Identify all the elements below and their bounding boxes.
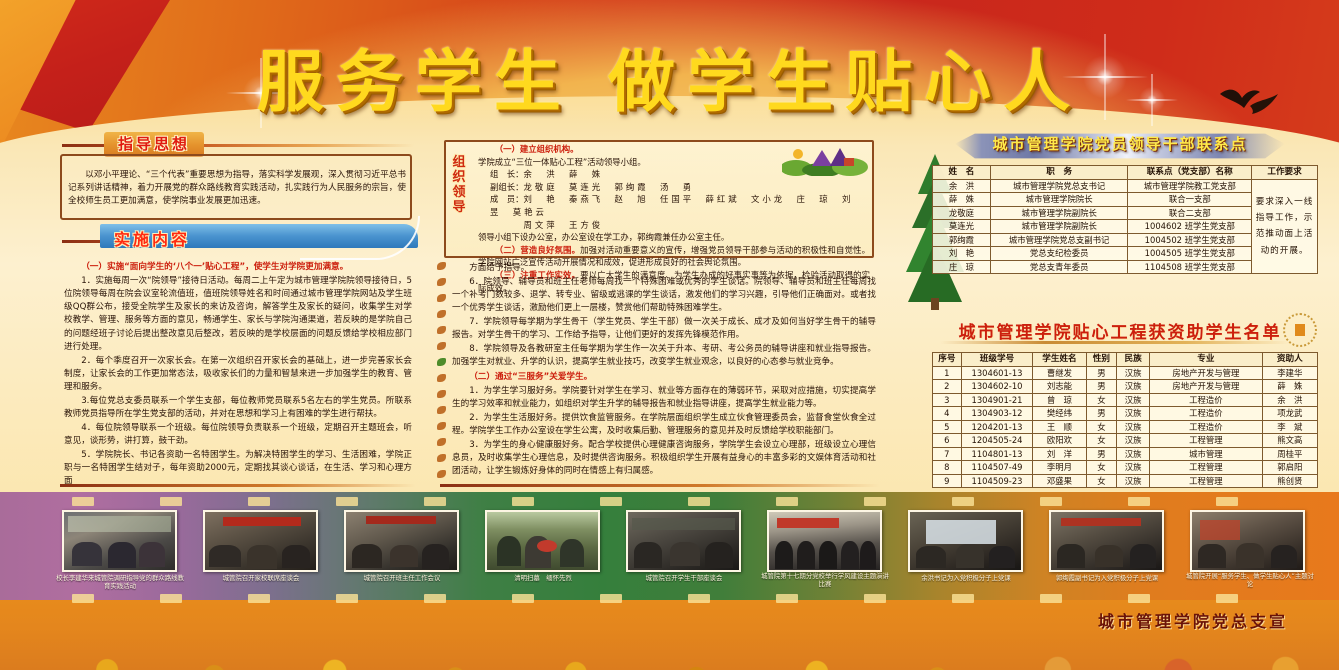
photo-image xyxy=(769,512,880,570)
photo-image xyxy=(910,512,1021,570)
film-perforation xyxy=(1128,497,1150,506)
org-row: 成 员：刘 艳 秦燕飞 赵 旭 任国平 薛红斌 文小龙 庄 琼 刘 昱 莫艳云 xyxy=(478,193,870,218)
poster-root: 服务学生 做学生贴心人 指导思想 以邓小平理论、“三个代表”重要思想为指导，落实… xyxy=(0,0,1339,670)
cell-major: 工程造价 xyxy=(1150,407,1263,421)
film-perforation xyxy=(1216,497,1238,506)
photo-image xyxy=(1051,512,1162,570)
film-perforation xyxy=(864,497,886,506)
org-names: 周文萍 王方俊 xyxy=(524,220,604,230)
photo-caption: 郭绚霞副书记为入党积极分子上党课 xyxy=(1043,574,1171,582)
cell-gender: 女 xyxy=(1086,420,1117,434)
organization-signature: 城市管理学院党总支宣 xyxy=(1098,608,1288,632)
cell-name: 余 洪 xyxy=(933,179,991,193)
photo-image xyxy=(628,512,739,570)
cell-major: 工程管理 xyxy=(1150,434,1263,448)
cell-duty: 城市管理学院副院长 xyxy=(990,220,1128,234)
cell-sponsor: 郭启阳 xyxy=(1262,461,1317,475)
photo-caption: 城管院召开班主任工作会议 xyxy=(338,574,466,582)
org-line-2: 领导小组下设办公室，办公室设在学工办，郭绚霞兼任办公室主任。 xyxy=(478,231,870,244)
cell-name: 薛 姝 xyxy=(933,193,991,207)
photo-thumbnail[interactable] xyxy=(1190,510,1305,572)
photo-caption: 城管院第十七期分党校举行学风建设主题演讲比赛 xyxy=(761,572,889,588)
cell-student: 欧阳欢 xyxy=(1033,434,1086,448)
implementation-lead: （一）实施“面向学生的‘八个一’贴心工程”，使学生对学院更加满意。 xyxy=(64,261,412,274)
cell-student: 王 顺 xyxy=(1033,420,1086,434)
cell-gender: 女 xyxy=(1086,461,1117,475)
film-perforation xyxy=(160,594,182,603)
org-lead-2: （二）营造良好氛围。 xyxy=(495,245,580,255)
cell-sponsor: 熊创贤 xyxy=(1262,474,1317,488)
col-index: 序号 xyxy=(933,353,962,367)
col-duty: 职 务 xyxy=(990,166,1128,180)
film-perforation xyxy=(424,594,446,603)
section-implementation: 实施内容 （一）实施“面向学生的‘八个一’贴心工程”，使学生对学院更加满意。 1… xyxy=(62,226,414,488)
cell-index: 7 xyxy=(933,447,962,461)
table-row: 5 1204201-13 王 顺 女 汉族 工程造价 李 斌 xyxy=(933,420,1318,434)
service-lead: （二）通过“三服务”关爱学生。 xyxy=(452,371,876,384)
page-title: 服务学生 做学生贴心人 xyxy=(0,28,1339,125)
funded-students-table: 序号 班级学号 学生姓名 性别 民族 专业 资助人 1 1304601-13 曹… xyxy=(932,352,1318,488)
film-perforation xyxy=(600,497,622,506)
table-header-row: 姓 名 职 务 联系点（党支部）名称 工作要求 xyxy=(933,166,1318,180)
cell-duty: 城市管理学院党总支书记 xyxy=(990,179,1128,193)
cell-index: 9 xyxy=(933,474,962,488)
cell-contact: 城市管理学院教工党支部 xyxy=(1128,179,1252,193)
cell-sponsor: 周桂平 xyxy=(1262,447,1317,461)
implementation-body: （一）实施“面向学生的‘八个一’贴心工程”，使学生对学院更加满意。 1．实施每周… xyxy=(62,259,414,488)
film-perforation xyxy=(688,497,710,506)
col-name: 姓 名 xyxy=(933,166,991,180)
cell-student: 李明月 xyxy=(1033,461,1086,475)
cell-major: 工程管理 xyxy=(1150,461,1263,475)
cell-name: 莫连光 xyxy=(933,220,991,234)
cell-student: 刘志能 xyxy=(1033,380,1086,394)
film-perforation xyxy=(776,497,798,506)
funded-students-title-rule xyxy=(940,341,1290,344)
cell-index: 4 xyxy=(933,407,962,421)
film-perforation xyxy=(248,594,270,603)
left-column: 指导思想 以邓小平理论、“三个代表”重要思想为指导，落实科学发展观，深入贯彻习近… xyxy=(62,132,414,489)
funded-students-tbody: 1 1304601-13 曹继发 男 汉族 房地产开发与管理 李建华 2 130… xyxy=(933,366,1318,488)
section-heading-label: 实施内容 xyxy=(114,226,190,250)
film-perforation xyxy=(512,594,534,603)
film-perforation xyxy=(72,594,94,603)
service-item: 1．为学生学习服好务。学院要针对学生在学习、就业等方面存在的薄弱环节，采取对应措… xyxy=(452,385,876,411)
org-role: 副组长： xyxy=(490,182,524,192)
cell-gender: 女 xyxy=(1086,393,1117,407)
org-lead-1: （一）建立组织机构。 xyxy=(478,143,870,156)
cell-gender: 男 xyxy=(1086,380,1117,394)
photo-caption: 清明扫墓 缅怀先烈 xyxy=(479,574,607,582)
cell-index: 3 xyxy=(933,393,962,407)
cell-ethnicity: 汉族 xyxy=(1117,447,1150,461)
cell-contact: 1004502 班学生党支部 xyxy=(1128,233,1252,247)
middle-column-text: 方面给予指导。 6．院领导、辅导员和班主任老师每周找一个特殊困难或优秀的学生谈话… xyxy=(452,262,876,479)
cell-ethnicity: 汉族 xyxy=(1117,393,1150,407)
cell-sponsor: 李 斌 xyxy=(1262,420,1317,434)
col-gender: 性别 xyxy=(1086,353,1117,367)
cell-sponsor: 项龙武 xyxy=(1262,407,1317,421)
left-column-bottom-rule xyxy=(60,484,416,487)
cell-class-id: 1304903-12 xyxy=(961,407,1033,421)
cell-student: 樊经纬 xyxy=(1033,407,1086,421)
film-perforation xyxy=(336,497,358,506)
cell-duty: 城市管理学院党总支副书记 xyxy=(990,233,1128,247)
cell-duty: 党总支青年委员 xyxy=(990,260,1128,274)
photo-caption: 余洪书记为入党积极分子上党课 xyxy=(902,574,1030,582)
org-row: 副组长：龙敬庭 莫连光 郭绚霞 汤 勇 xyxy=(478,181,870,194)
cell-index: 2 xyxy=(933,380,962,394)
implementation-item: 4．每位院领导联系一个班级。每位院领导负责联系一个班级，定期召开主题班会，听意见… xyxy=(64,422,412,448)
section-guiding-ideology: 指导思想 以邓小平理论、“三个代表”重要思想为指导，落实科学发展观，深入贯彻习近… xyxy=(62,132,414,208)
cell-gender: 男 xyxy=(1086,366,1117,380)
film-perforation xyxy=(160,497,182,506)
guiding-paragraph: 以邓小平理论、“三个代表”重要思想为指导，落实科学发展观，深入贯彻习近平总书记系… xyxy=(68,169,406,208)
film-perforation xyxy=(864,594,886,603)
cell-name: 郭绚霞 xyxy=(933,233,991,247)
org-names: 余 洪 薛 姝 xyxy=(524,169,604,179)
film-perforation xyxy=(1040,594,1062,603)
header-swoosh-decoration xyxy=(300,216,420,260)
cell-class-id: 1304901-21 xyxy=(961,393,1033,407)
cell-class-id: 1204505-24 xyxy=(961,434,1033,448)
cell-ethnicity: 汉族 xyxy=(1117,434,1150,448)
cell-student: 曹继发 xyxy=(1033,366,1086,380)
cell-name: 庄 琼 xyxy=(933,260,991,274)
org-role: 组 长： xyxy=(490,169,524,179)
cell-class-id: 1304602-10 xyxy=(961,380,1033,394)
cell-contact: 联合二支部 xyxy=(1128,206,1252,220)
cell-sponsor: 余 洪 xyxy=(1262,393,1317,407)
cell-gender: 男 xyxy=(1086,407,1117,421)
col-class-id: 班级学号 xyxy=(961,353,1033,367)
org-label-char: 组 xyxy=(452,156,465,169)
film-perforation xyxy=(424,497,446,506)
implementation-item: 3.每位党总支委员联系一个学生支部，每位教师党员联系5名左右的学生党员。所联系教… xyxy=(64,395,412,421)
cell-class-id: 1304601-13 xyxy=(961,366,1033,380)
film-perforation xyxy=(248,497,270,506)
cell-major: 房地产开发与管理 xyxy=(1150,366,1263,380)
cell-major: 工程管理 xyxy=(1150,474,1263,488)
cell-index: 8 xyxy=(933,461,962,475)
col-student-name: 学生姓名 xyxy=(1033,353,1086,367)
film-perforation xyxy=(1128,594,1150,603)
table-row: 4 1304903-12 樊经纬 男 汉族 工程造价 项龙武 xyxy=(933,407,1318,421)
org-role: 成 员： xyxy=(490,194,524,204)
film-perforation xyxy=(952,497,974,506)
vine-decoration-icon xyxy=(437,262,447,484)
middle-item: 8．学院领导及各教研室主任每学期为学生作一次关于升本、考研、考公务员的辅导讲座和… xyxy=(452,343,876,369)
org-row: 周文萍 王方俊 xyxy=(478,219,870,232)
cell-ethnicity: 汉族 xyxy=(1117,380,1150,394)
cell-major: 工程造价 xyxy=(1150,393,1263,407)
org-label-char: 导 xyxy=(452,201,465,214)
photo-image xyxy=(64,512,175,570)
middle-item: 7．学院领导每学期为学生骨干（学生党员、学生干部）做一次关于成长、成才及如何当好… xyxy=(452,316,876,342)
organization-vertical-label: 组 织 领 导 xyxy=(449,156,469,214)
cell-major: 城市管理 xyxy=(1150,447,1263,461)
cell-sponsor: 熊文高 xyxy=(1262,434,1317,448)
continued-line: 方面给予指导。 xyxy=(452,262,876,275)
cell-name: 龙敬庭 xyxy=(933,206,991,220)
cell-sponsor: 薛 姝 xyxy=(1262,380,1317,394)
service-item: 3．为学生的身心健康服好务。配合学校提供心理健康咨询服务，学院学生会设立心理部，… xyxy=(452,439,876,478)
photo-thumbnail[interactable] xyxy=(626,510,741,572)
org-line-1: 学院成立“三位一体贴心工程”活动领导小组。 xyxy=(478,156,870,169)
cell-duty: 城市管理学院院长 xyxy=(990,193,1128,207)
photo-thumbnail[interactable] xyxy=(767,510,882,572)
cell-class-id: 1204201-13 xyxy=(961,420,1033,434)
col-major: 专业 xyxy=(1150,353,1263,367)
table-row: 7 1104801-13 刘 洋 男 汉族 城市管理 周桂平 xyxy=(933,447,1318,461)
middle-column-bottom-rule xyxy=(440,484,880,487)
cell-major: 工程造价 xyxy=(1150,420,1263,434)
table-row: 8 1104507-49 李明月 女 汉族 工程管理 郭启阳 xyxy=(933,461,1318,475)
cell-class-id: 1104507-49 xyxy=(961,461,1033,475)
film-perforation xyxy=(512,497,534,506)
cell-student: 曾 琼 xyxy=(1033,393,1086,407)
implementation-item: 5．学院院长、书记各资助一名特困学生。为解决特困学生的学习、生活困难，学院正职与… xyxy=(64,449,412,488)
photo-thumbnail[interactable] xyxy=(908,510,1023,572)
cell-contact: 1004602 班学生党支部 xyxy=(1128,220,1252,234)
cell-duty: 党总支纪检委员 xyxy=(990,247,1128,261)
photo-image xyxy=(205,512,316,570)
col-ethnicity: 民族 xyxy=(1117,353,1150,367)
cell-sponsor: 李建华 xyxy=(1262,366,1317,380)
table-row: 1 1304601-13 曹继发 男 汉族 房地产开发与管理 李建华 xyxy=(933,366,1318,380)
film-perforation xyxy=(776,594,798,603)
cell-class-id: 1104509-23 xyxy=(961,474,1033,488)
org-names: 龙敬庭 莫连光 郭绚霞 汤 勇 xyxy=(524,182,695,192)
cell-duty: 城市管理学院副院长 xyxy=(990,206,1128,220)
org-label-char: 织 xyxy=(452,171,465,184)
org-label-char: 领 xyxy=(452,186,465,199)
film-perforation xyxy=(1216,594,1238,603)
cell-index: 6 xyxy=(933,434,962,448)
cell-index: 1 xyxy=(933,366,962,380)
photo-thumbnail[interactable] xyxy=(1049,510,1164,572)
implementation-item: 1．实施每周一次“院领导”接待日活动。每周二上午定为城市管理学院院领导接待日，5… xyxy=(64,275,412,353)
funded-students-title: 城市管理学院贴心工程获资助学生名单 xyxy=(930,318,1310,343)
middle-item: 6．院领导、辅导员和班主任老师每周找一个特殊困难或优秀的学生谈话。院领导、辅导员… xyxy=(452,276,876,315)
film-perforation xyxy=(336,594,358,603)
cell-student: 邓盛果 xyxy=(1033,474,1086,488)
film-perforation xyxy=(1040,497,1062,506)
photo-caption: 城管院召开家校联席座谈会 xyxy=(197,574,325,582)
cell-major: 房地产开发与管理 xyxy=(1150,380,1263,394)
org-role xyxy=(490,220,524,230)
photo-thumbnail[interactable] xyxy=(344,510,459,572)
org-row: 组 长：余 洪 薛 姝 xyxy=(478,168,870,181)
cell-contact: 1004505 班学生党支部 xyxy=(1128,247,1252,261)
cell-contact: 1104508 班学生党支部 xyxy=(1128,260,1252,274)
cell-contact: 联合一支部 xyxy=(1128,193,1252,207)
cell-ethnicity: 汉族 xyxy=(1117,407,1150,421)
cell-ethnicity: 汉族 xyxy=(1117,474,1150,488)
cell-name: 刘 艳 xyxy=(933,247,991,261)
service-item: 2．为学生生活服好务。提供饮食监管服务。在学院层面组织学生成立伙食管理委员会，监… xyxy=(452,412,876,438)
photo-caption: 校长李建华来城管院调研指导党的群众路线教育实践活动 xyxy=(56,574,184,590)
table-row: 2 1304602-10 刘志能 男 汉族 房地产开发与管理 薛 姝 xyxy=(933,380,1318,394)
photo-image xyxy=(346,512,457,570)
cell-gender: 女 xyxy=(1086,474,1117,488)
photo-thumbnail[interactable] xyxy=(62,510,177,572)
cell-ethnicity: 汉族 xyxy=(1117,461,1150,475)
cell-index: 5 xyxy=(933,420,962,434)
cell-ethnicity: 汉族 xyxy=(1117,366,1150,380)
org-names: 刘 艳 秦燕飞 赵 旭 任国平 薛红斌 文小龙 庄 琼 刘 昱 莫艳云 xyxy=(490,194,865,217)
table-header-row: 序号 班级学号 学生姓名 性别 民族 专业 资助人 xyxy=(933,353,1318,367)
film-perforation xyxy=(600,594,622,603)
seal-icon xyxy=(1283,313,1317,347)
col-sponsor: 资助人 xyxy=(1262,353,1317,367)
section-header-implementation: 实施内容 xyxy=(62,226,414,254)
table-row: 9 1104509-23 邓盛果 女 汉族 工程管理 熊创贤 xyxy=(933,474,1318,488)
implementation-item: 2．每个季度召开一次家长会。在第一次组织召开家长会的基础上，进一步完善家长会制度… xyxy=(64,355,412,394)
party-leader-contact-table: 姓 名 职 务 联系点（党支部）名称 工作要求 余 洪 城市管理学院党总支书记 … xyxy=(932,165,1318,274)
col-requirement: 工作要求 xyxy=(1252,166,1318,180)
film-perforation xyxy=(72,497,94,506)
table-row: 3 1304901-21 曾 琼 女 汉族 工程造价 余 洪 xyxy=(933,393,1318,407)
table-row: 6 1204505-24 欧阳欢 女 汉族 工程管理 熊文高 xyxy=(933,434,1318,448)
cell-gender: 男 xyxy=(1086,447,1117,461)
cell-gender: 女 xyxy=(1086,434,1117,448)
photo-thumbnail[interactable] xyxy=(203,510,318,572)
cell-student: 刘 洋 xyxy=(1033,447,1086,461)
cell-class-id: 1104801-13 xyxy=(961,447,1033,461)
table-row: 余 洪 城市管理学院党总支书记 城市管理学院教工党支部 要求深入一线指导工作，示… xyxy=(933,179,1318,193)
guiding-body: 以邓小平理论、“三个代表”重要思想为指导，落实科学发展观，深入贯彻习近平总书记系… xyxy=(62,163,414,208)
photo-image xyxy=(1192,512,1303,570)
photo-thumbnail[interactable] xyxy=(485,510,600,572)
col-contact: 联系点（党支部）名称 xyxy=(1128,166,1252,180)
cell-requirement: 要求深入一线指导工作，示范推动面上活动的开展。 xyxy=(1252,179,1318,274)
film-perforation xyxy=(688,594,710,603)
photo-caption: 城管院召开学生干部座谈会 xyxy=(620,574,748,582)
photo-image xyxy=(487,512,598,570)
party-contact-banner-title: 城市管理学院党员领导干部联系点 xyxy=(955,133,1285,154)
film-perforation xyxy=(952,594,974,603)
photo-caption: 城管院开展“服务学生、做学生贴心人”主题讨论 xyxy=(1184,572,1316,588)
cell-ethnicity: 汉族 xyxy=(1117,420,1150,434)
